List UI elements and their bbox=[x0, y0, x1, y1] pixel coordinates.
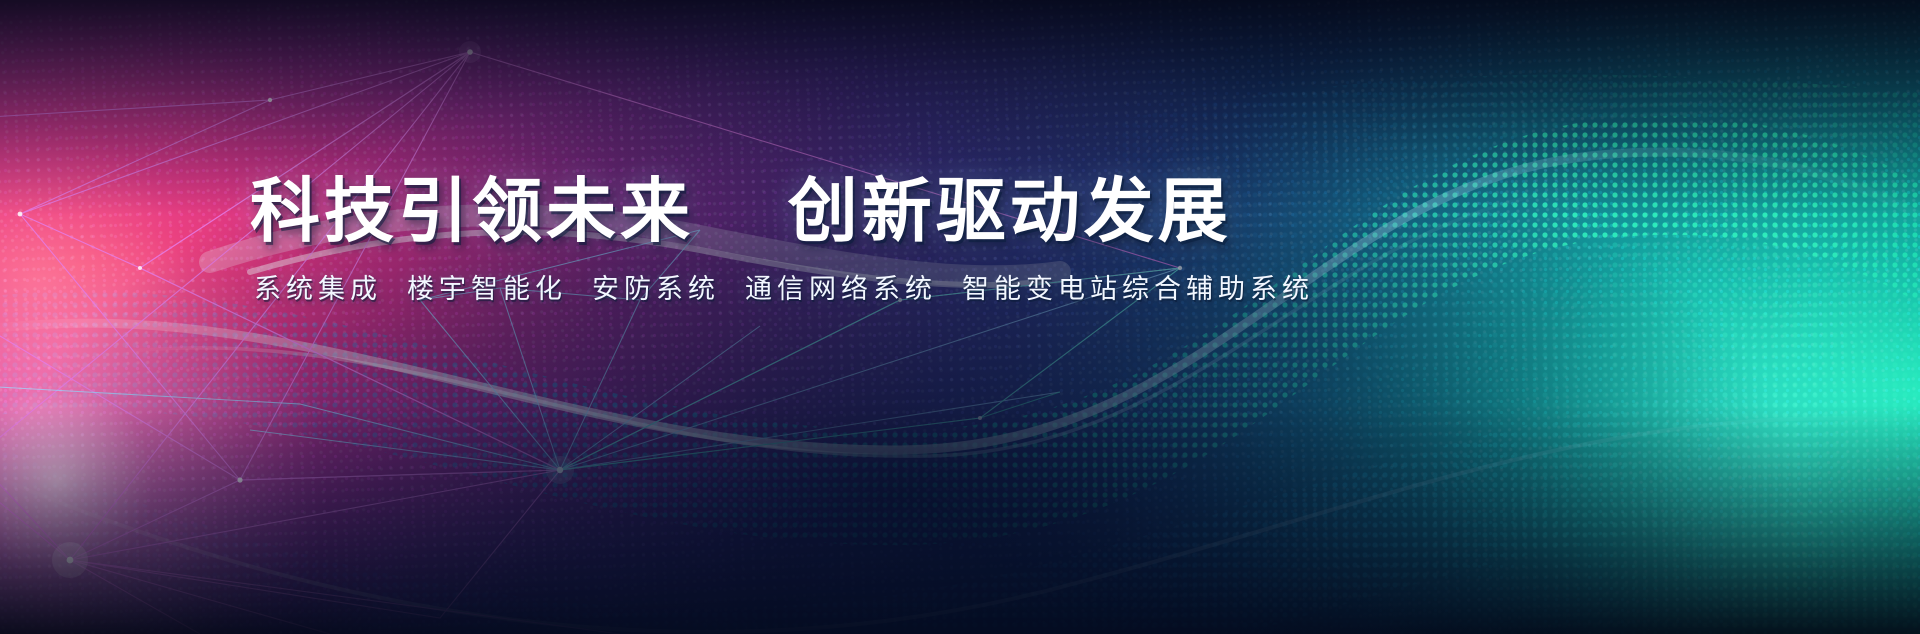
halftone-dots-left bbox=[0, 0, 1920, 634]
halftone-dots-fine bbox=[0, 0, 1920, 634]
banner-headline: 科技引领未来 创新驱动发展 bbox=[250, 176, 1370, 246]
glow-white-left bbox=[0, 0, 1920, 634]
glow-green-right bbox=[0, 0, 1920, 634]
banner-subtitle: 系统集成 楼宇智能化 安防系统 通信网络系统 智能变电站综合辅助系统 bbox=[254, 276, 1370, 303]
background-teal-gradient bbox=[0, 0, 1920, 634]
background-base-gradient bbox=[0, 0, 1920, 634]
banner-copy: 科技引领未来 创新驱动发展 系统集成 楼宇智能化 安防系统 通信网络系统 智能变… bbox=[250, 176, 1370, 303]
glow-red-left bbox=[0, 0, 1920, 634]
background-vignette-top-bottom bbox=[0, 0, 1920, 634]
network-wireframe-graphic bbox=[0, 0, 1920, 634]
hero-banner: 科技引领未来 创新驱动发展 系统集成 楼宇智能化 安防系统 通信网络系统 智能变… bbox=[0, 0, 1920, 634]
background-center-shade bbox=[0, 0, 1920, 634]
dot-wave-graphic bbox=[0, 0, 1920, 634]
halftone-dots-right bbox=[0, 0, 1920, 634]
